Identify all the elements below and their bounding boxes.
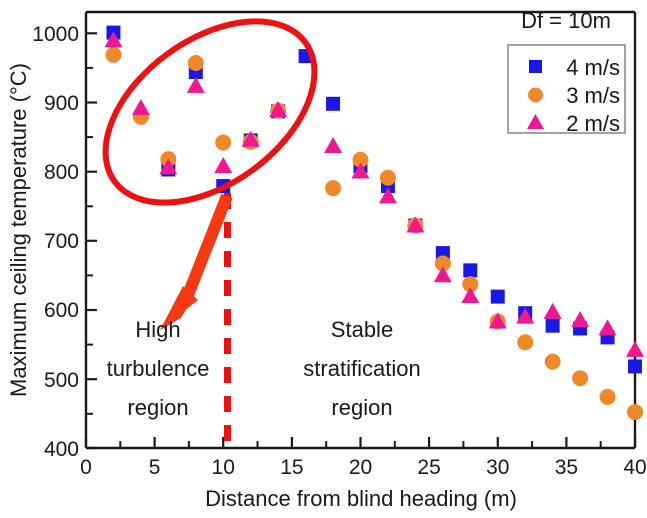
right-region-line2: stratification bbox=[303, 356, 420, 381]
df-label: Df = 10m bbox=[521, 8, 611, 33]
data-point-4ms-x28 bbox=[463, 263, 477, 277]
data-point-3ms-x36 bbox=[572, 370, 588, 386]
y-tick-600: 600 bbox=[44, 299, 79, 322]
x-tick-40: 40 bbox=[623, 456, 646, 479]
x-tick-15: 15 bbox=[280, 456, 303, 479]
data-point-3ms-x40 bbox=[627, 404, 643, 420]
legend-marker-square-icon bbox=[529, 60, 542, 73]
legend-marker-circle-icon bbox=[528, 88, 543, 103]
x-axis-title: Distance from blind heading (m) bbox=[205, 486, 517, 511]
right-region-line3: region bbox=[331, 395, 392, 420]
scatter-chart: 1000 900 800 700 600 500 400 0 5 10 15 2… bbox=[0, 0, 647, 518]
data-point-3ms-x32 bbox=[517, 334, 533, 350]
y-axis-title: Maximum ceiling temperature (°C) bbox=[6, 63, 31, 397]
data-point-4ms-x30 bbox=[491, 290, 505, 304]
data-point-3ms-x38 bbox=[600, 389, 616, 405]
left-region-line1: High bbox=[135, 317, 180, 342]
x-tick-10: 10 bbox=[212, 456, 235, 479]
x-tick-0: 0 bbox=[80, 456, 92, 479]
x-tick-5: 5 bbox=[149, 456, 161, 479]
y-tick-400: 400 bbox=[44, 438, 79, 461]
data-point-3ms-x2 bbox=[105, 47, 121, 63]
data-point-3ms-x22 bbox=[380, 170, 396, 186]
y-tick-500: 500 bbox=[44, 369, 79, 392]
left-region-line2: turbulence bbox=[107, 356, 210, 381]
right-region-line1: Stable bbox=[331, 317, 393, 342]
data-point-4ms-x18 bbox=[326, 97, 340, 111]
data-point-3ms-x34 bbox=[545, 354, 561, 370]
legend-label-3ms: 3 m/s bbox=[566, 83, 620, 108]
y-tick-900: 900 bbox=[44, 92, 79, 115]
x-tick-30: 30 bbox=[486, 456, 509, 479]
x-tick-35: 35 bbox=[555, 456, 578, 479]
data-point-3ms-x10 bbox=[215, 135, 231, 151]
data-point-3ms-x18 bbox=[325, 180, 341, 196]
y-tick-1000: 1000 bbox=[32, 23, 79, 46]
data-point-4ms-x40 bbox=[628, 359, 642, 373]
left-region-line3: region bbox=[127, 395, 188, 420]
data-point-4ms-x34 bbox=[546, 319, 560, 333]
y-tick-800: 800 bbox=[44, 161, 79, 184]
data-point-3ms-x8 bbox=[188, 55, 204, 71]
x-tick-25: 25 bbox=[417, 456, 440, 479]
legend-label-2ms: 2 m/s bbox=[566, 111, 620, 136]
legend-label-4ms: 4 m/s bbox=[566, 55, 620, 80]
y-tick-700: 700 bbox=[44, 230, 79, 253]
x-tick-20: 20 bbox=[349, 456, 372, 479]
legend: 4 m/s 3 m/s 2 m/s bbox=[508, 45, 625, 136]
